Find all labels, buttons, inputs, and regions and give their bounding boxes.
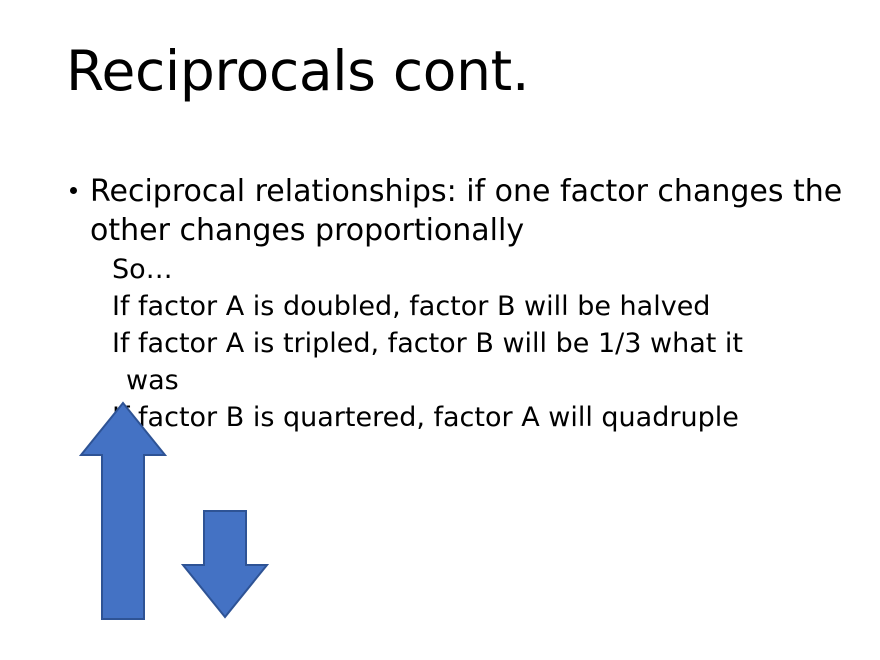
list-item: So… [64,251,854,288]
slide-canvas: Reciprocals cont. Reciprocal relationshi… [0,0,880,660]
sub-line-text: So… [112,254,173,285]
list-item: If factor B is quartered, factor A will … [64,399,854,436]
sub-line-text: If factor A is tripled, factor B will be… [112,328,743,359]
list-item: If factor A is tripled, factor B will be… [64,325,854,399]
list-item: Reciprocal relationships: if one factor … [64,172,854,250]
round-bullet-icon [70,187,77,194]
sub-line-text: If factor B is quartered, factor A will … [112,402,739,433]
up-arrow-icon [78,400,168,622]
down-arrow-icon [180,508,270,620]
list-item: If factor A is doubled, factor B will be… [64,288,854,325]
sub-line-text: If factor A is doubled, factor B will be… [112,291,710,322]
sub-line-continuation: was [113,362,854,399]
bullet-text: Reciprocal relationships: if one factor … [90,172,854,250]
slide-body: Reciprocal relationships: if one factor … [64,172,854,436]
page-title: Reciprocals cont. [66,38,846,104]
